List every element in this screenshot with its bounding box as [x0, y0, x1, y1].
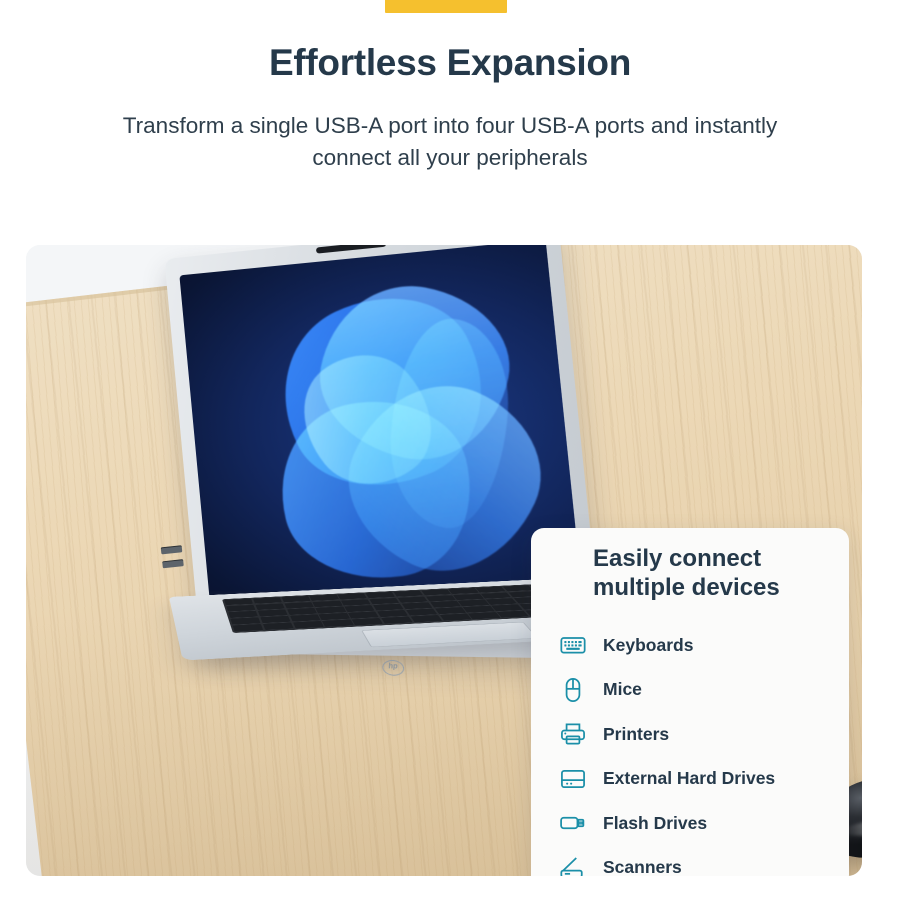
- keyboard-icon: [559, 631, 587, 659]
- flash-drive-icon: [559, 809, 587, 837]
- list-item: Printers: [559, 712, 849, 757]
- list-item-label: Keyboards: [603, 635, 693, 656]
- printer-icon: [559, 720, 587, 748]
- product-feature-image: Effortless Expansion Transform a single …: [0, 0, 900, 900]
- page-title: Effortless Expansion: [0, 42, 900, 84]
- laptop-usb-ports: [161, 543, 210, 593]
- hp-logo: hp: [382, 660, 405, 676]
- product-photo-panel: hp: [26, 245, 862, 876]
- list-item: Scanners: [559, 846, 849, 877]
- list-item: Keyboards: [559, 623, 849, 668]
- list-item-label: External Hard Drives: [603, 768, 775, 789]
- windows-bloom-wallpaper: [257, 275, 565, 584]
- devices-list: Keyboards Mice: [559, 623, 849, 876]
- list-item-label: Printers: [603, 724, 669, 745]
- laptop-screen: [179, 245, 585, 625]
- list-item-label: Flash Drives: [603, 813, 707, 834]
- page-subtitle: Transform a single USB-A port into four …: [100, 110, 800, 174]
- list-item-label: Mice: [603, 679, 642, 700]
- list-item-label: Scanners: [603, 857, 682, 876]
- scanner-icon: [559, 854, 587, 876]
- list-item: Mice: [559, 668, 849, 713]
- webcam-bar: [316, 245, 387, 254]
- hard-drive-icon: [559, 765, 587, 793]
- mouse-icon: [559, 676, 587, 704]
- list-item: External Hard Drives: [559, 757, 849, 802]
- list-item: Flash Drives: [559, 801, 849, 846]
- top-accent-bar: [385, 0, 507, 13]
- devices-card: Easily connect multiple devices: [531, 528, 849, 876]
- devices-card-title: Easily connect multiple devices: [593, 544, 843, 603]
